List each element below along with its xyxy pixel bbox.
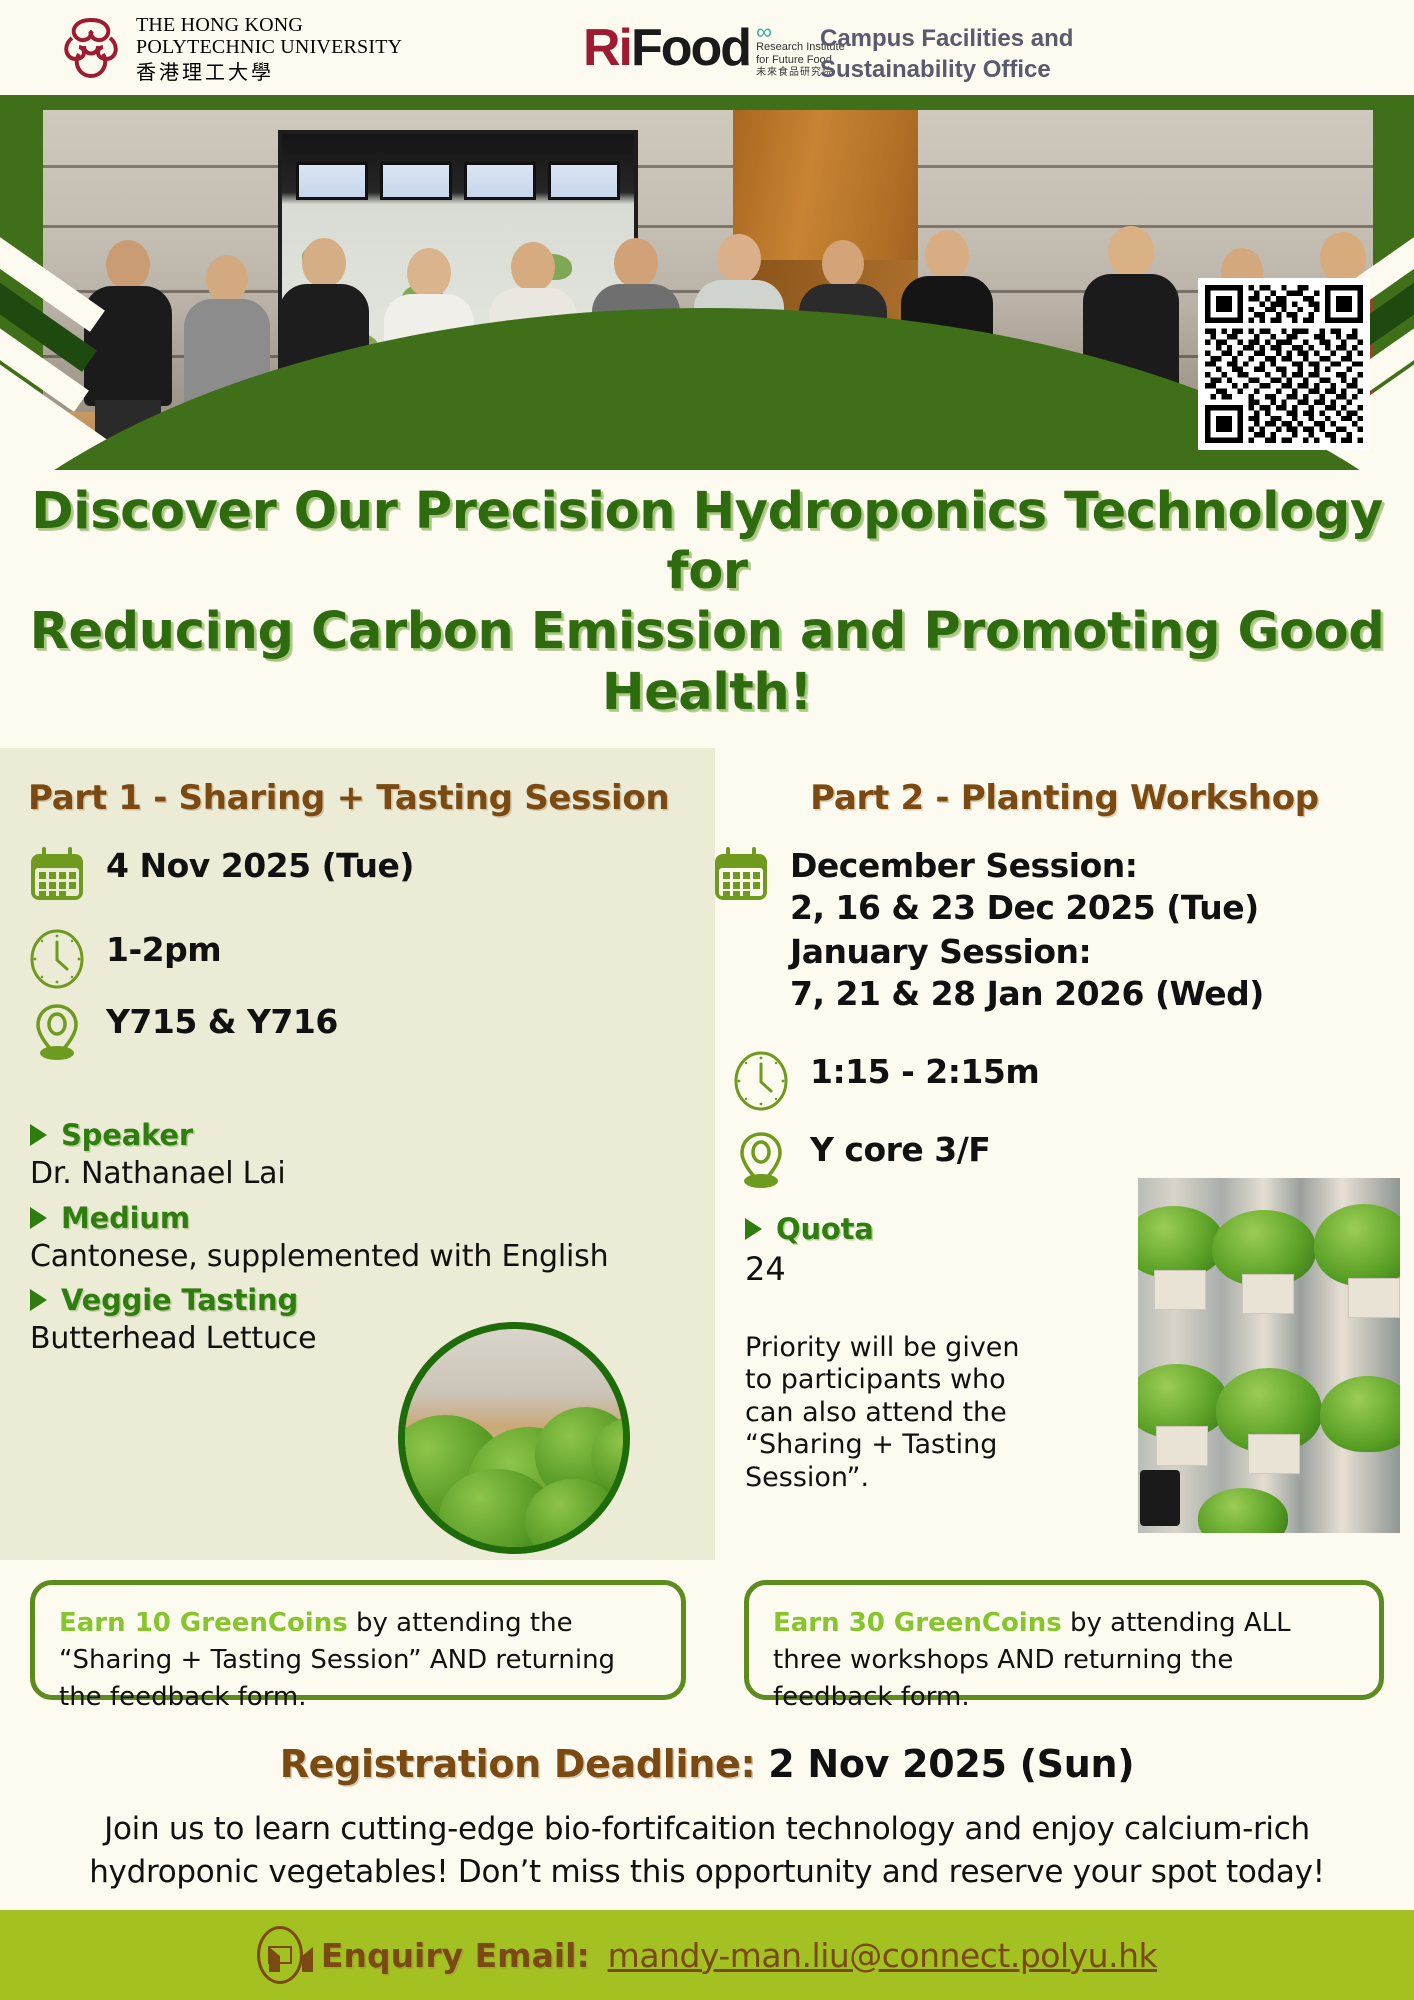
part1-speaker-block: Speaker Dr. Nathanael Lai	[30, 1118, 286, 1192]
part1-venue-row: Y715 & Y716	[26, 1000, 338, 1062]
location-pin-icon	[26, 1000, 88, 1062]
title-line-1: Discover Our Precision Hydroponics Techn…	[22, 482, 1392, 602]
polyu-knot-icon	[60, 16, 122, 82]
polyu-logo: THE HONG KONG POLYTECHNIC UNIVERSITY 香港理…	[60, 14, 402, 83]
footer-bar: Enquiry Email: mandy-man.liu@connect.pol…	[0, 1910, 1414, 2000]
part1-speaker-value: Dr. Nathanael Lai	[30, 1156, 286, 1192]
hydroponic-tower-photo	[1138, 1178, 1400, 1533]
greencoins-box-part1: Earn 10 GreenCoins by attending the “Sha…	[30, 1580, 686, 1700]
part2-quota-note-wrap: Priority will be given to participants w…	[745, 1332, 1050, 1494]
polyu-line2: POLYTECHNIC UNIVERSITY	[136, 36, 402, 58]
triangle-bullet-icon	[745, 1218, 762, 1240]
rifood-ri-text: Ri	[583, 19, 631, 77]
polyu-line1: THE HONG KONG	[136, 14, 402, 36]
cfso-line2: Sustainability Office	[820, 55, 1073, 86]
registration-qr-code[interactable]	[1198, 278, 1370, 450]
part1-speaker-label: Speaker	[61, 1118, 193, 1152]
clock-icon	[730, 1050, 792, 1112]
lettuce-photo	[398, 1322, 630, 1554]
part2-dec-row: December Session: 2, 16 & 23 Dec 2025 (T…	[710, 844, 1259, 928]
polyu-wordmark: THE HONG KONG POLYTECHNIC UNIVERSITY 香港理…	[136, 14, 402, 83]
part2-venue-row: Y core 3/F	[730, 1128, 990, 1190]
part1-heading: Part 1 - Sharing + Tasting Session	[28, 778, 669, 818]
greencoins-part1-highlight: Earn 10 GreenCoins	[59, 1608, 348, 1638]
title-line-2: Reducing Carbon Emission and Promoting G…	[22, 602, 1392, 722]
triangle-bullet-icon	[30, 1289, 47, 1311]
part2-time: 1:15 - 2:15m	[810, 1050, 1039, 1092]
qr-code-icon	[1205, 285, 1363, 443]
part1-medium-value: Cantonese, supplemented with English	[30, 1239, 608, 1275]
part1-veggie-heading: Veggie Tasting	[30, 1283, 316, 1317]
part2-jan-row: January Session: 7, 21 & 28 Jan 2026 (We…	[790, 930, 1264, 1014]
calendar-icon	[26, 844, 88, 906]
part1-veggie-block: Veggie Tasting Butterhead Lettuce	[30, 1283, 316, 1357]
poster-root: THE HONG KONG POLYTECHNIC UNIVERSITY 香港理…	[0, 0, 1414, 2000]
part2-time-row: 1:15 - 2:15m	[730, 1050, 1039, 1112]
part2-venue: Y core 3/F	[810, 1128, 990, 1170]
part1-date-row: 4 Nov 2025 (Tue)	[26, 844, 414, 906]
part2-dec-value: 2, 16 & 23 Dec 2025 (Tue)	[790, 886, 1259, 928]
header-bar: THE HONG KONG POLYTECHNIC UNIVERSITY 香港理…	[0, 0, 1414, 95]
part1-date: 4 Nov 2025 (Tue)	[106, 844, 414, 886]
registration-deadline: Registration Deadline: 2 Nov 2025 (Sun)	[0, 1742, 1414, 1786]
location-pin-icon	[730, 1128, 792, 1190]
part2-jan-value: 7, 21 & 28 Jan 2026 (Wed)	[790, 972, 1264, 1014]
calendar-icon	[710, 844, 772, 906]
part2-jan-label: January Session:	[790, 930, 1264, 972]
part1-time: 1-2pm	[106, 928, 221, 970]
polyu-chinese: 香港理工大學	[136, 61, 402, 83]
part1-veggie-label: Veggie Tasting	[61, 1283, 298, 1317]
part1-speaker-heading: Speaker	[30, 1118, 286, 1152]
cfso-logo: Campus Facilities and Sustainability Off…	[820, 24, 1073, 85]
part1-time-row: 1-2pm	[26, 928, 221, 990]
deadline-date: 2 Nov 2025 (Sun)	[768, 1742, 1134, 1786]
part2-quota-heading: Quota	[745, 1212, 874, 1246]
part2-quota-label: Quota	[776, 1212, 874, 1246]
part2-quota-block: Quota 24	[745, 1212, 874, 1288]
greencoins-box-part2: Earn 30 GreenCoins by attending ALL thre…	[744, 1580, 1384, 1700]
part2-quota-value: 24	[745, 1250, 874, 1288]
enquiry-email-link[interactable]: mandy-man.liu@connect.polyu.hk	[608, 1936, 1157, 1975]
banner-photo-section	[0, 95, 1414, 470]
enquiry-email-label: Enquiry Email:	[321, 1936, 590, 1975]
part1-venue: Y715 & Y716	[106, 1000, 338, 1042]
part1-veggie-value: Butterhead Lettuce	[30, 1321, 316, 1357]
part1-medium-label: Medium	[61, 1201, 190, 1235]
part1-medium-block: Medium Cantonese, supplemented with Engl…	[30, 1201, 608, 1275]
part2-dec-label: December Session:	[790, 844, 1259, 886]
rifood-food-text: Food	[631, 19, 750, 77]
page-title: Discover Our Precision Hydroponics Techn…	[0, 482, 1414, 723]
deadline-label: Registration Deadline:	[280, 1742, 756, 1786]
part2-heading: Part 2 - Planting Workshop	[715, 778, 1414, 818]
tagline-text: Join us to learn cutting-edge bio-fortif…	[0, 1808, 1414, 1894]
rifood-wordmark: RiFood	[583, 22, 750, 74]
clock-icon	[26, 928, 88, 990]
part2-quota-note: Priority will be given to participants w…	[745, 1332, 1050, 1494]
part1-medium-heading: Medium	[30, 1201, 608, 1235]
triangle-bullet-icon	[30, 1124, 47, 1146]
triangle-bullet-icon	[30, 1207, 47, 1229]
envelope-icon	[257, 1926, 303, 1984]
cfso-line1: Campus Facilities and	[820, 24, 1073, 55]
greencoins-part2-highlight: Earn 30 GreenCoins	[773, 1608, 1062, 1638]
rifood-logo: RiFood ∞ Research Institute for Future F…	[583, 22, 845, 80]
